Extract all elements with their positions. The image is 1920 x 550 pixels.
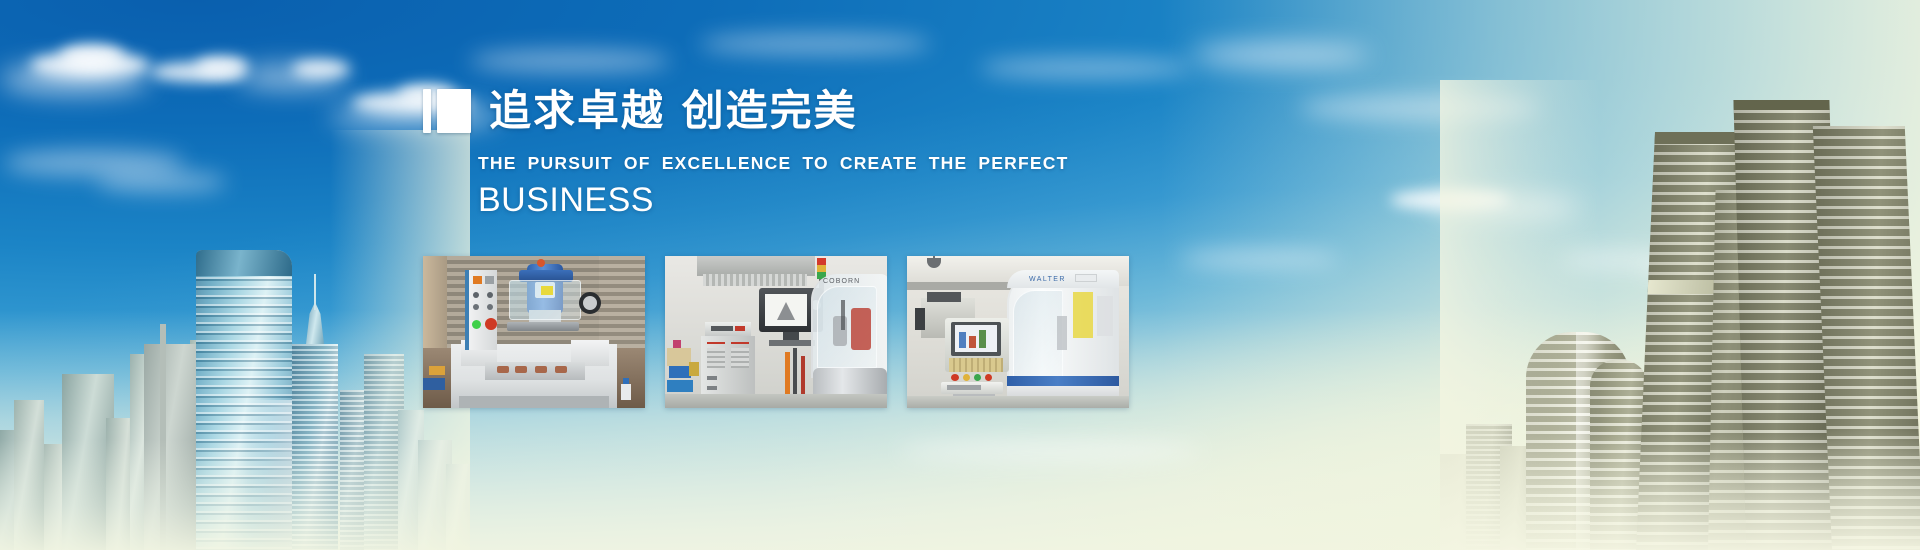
- photo-coborn-machine[interactable]: COBORN: [665, 256, 887, 408]
- headline-chinese: 追求卓越 创造完美: [489, 90, 858, 132]
- left-cityscape: [0, 130, 470, 550]
- subtitle-english: THE PURSUIT OF EXCELLENCE TO CREATE THE …: [478, 153, 1163, 174]
- photo-caption-coborn: COBORN: [823, 278, 860, 285]
- headline-block: 追求卓越 创造完美 THE PURSUIT OF EXCELLENCE TO C…: [423, 86, 1163, 217]
- photo-caption-walter: WALTER: [1029, 276, 1066, 283]
- logo-square-shape: [437, 89, 471, 133]
- right-cityscape: [1440, 80, 1920, 550]
- business-word: BUSINESS: [478, 183, 1163, 217]
- headline-row: 追求卓越 创造完美: [423, 86, 1163, 136]
- machine-photo-strip: COBORN: [423, 256, 1129, 408]
- photo-walter-machine[interactable]: WALTER: [907, 256, 1129, 408]
- hero-banner: 追求卓越 创造完美 THE PURSUIT OF EXCELLENCE TO C…: [0, 0, 1920, 550]
- bar-square-logo-mark-icon: [423, 89, 471, 133]
- photo-cnc-grinding-machine[interactable]: [423, 256, 645, 408]
- logo-bar-shape: [423, 89, 431, 133]
